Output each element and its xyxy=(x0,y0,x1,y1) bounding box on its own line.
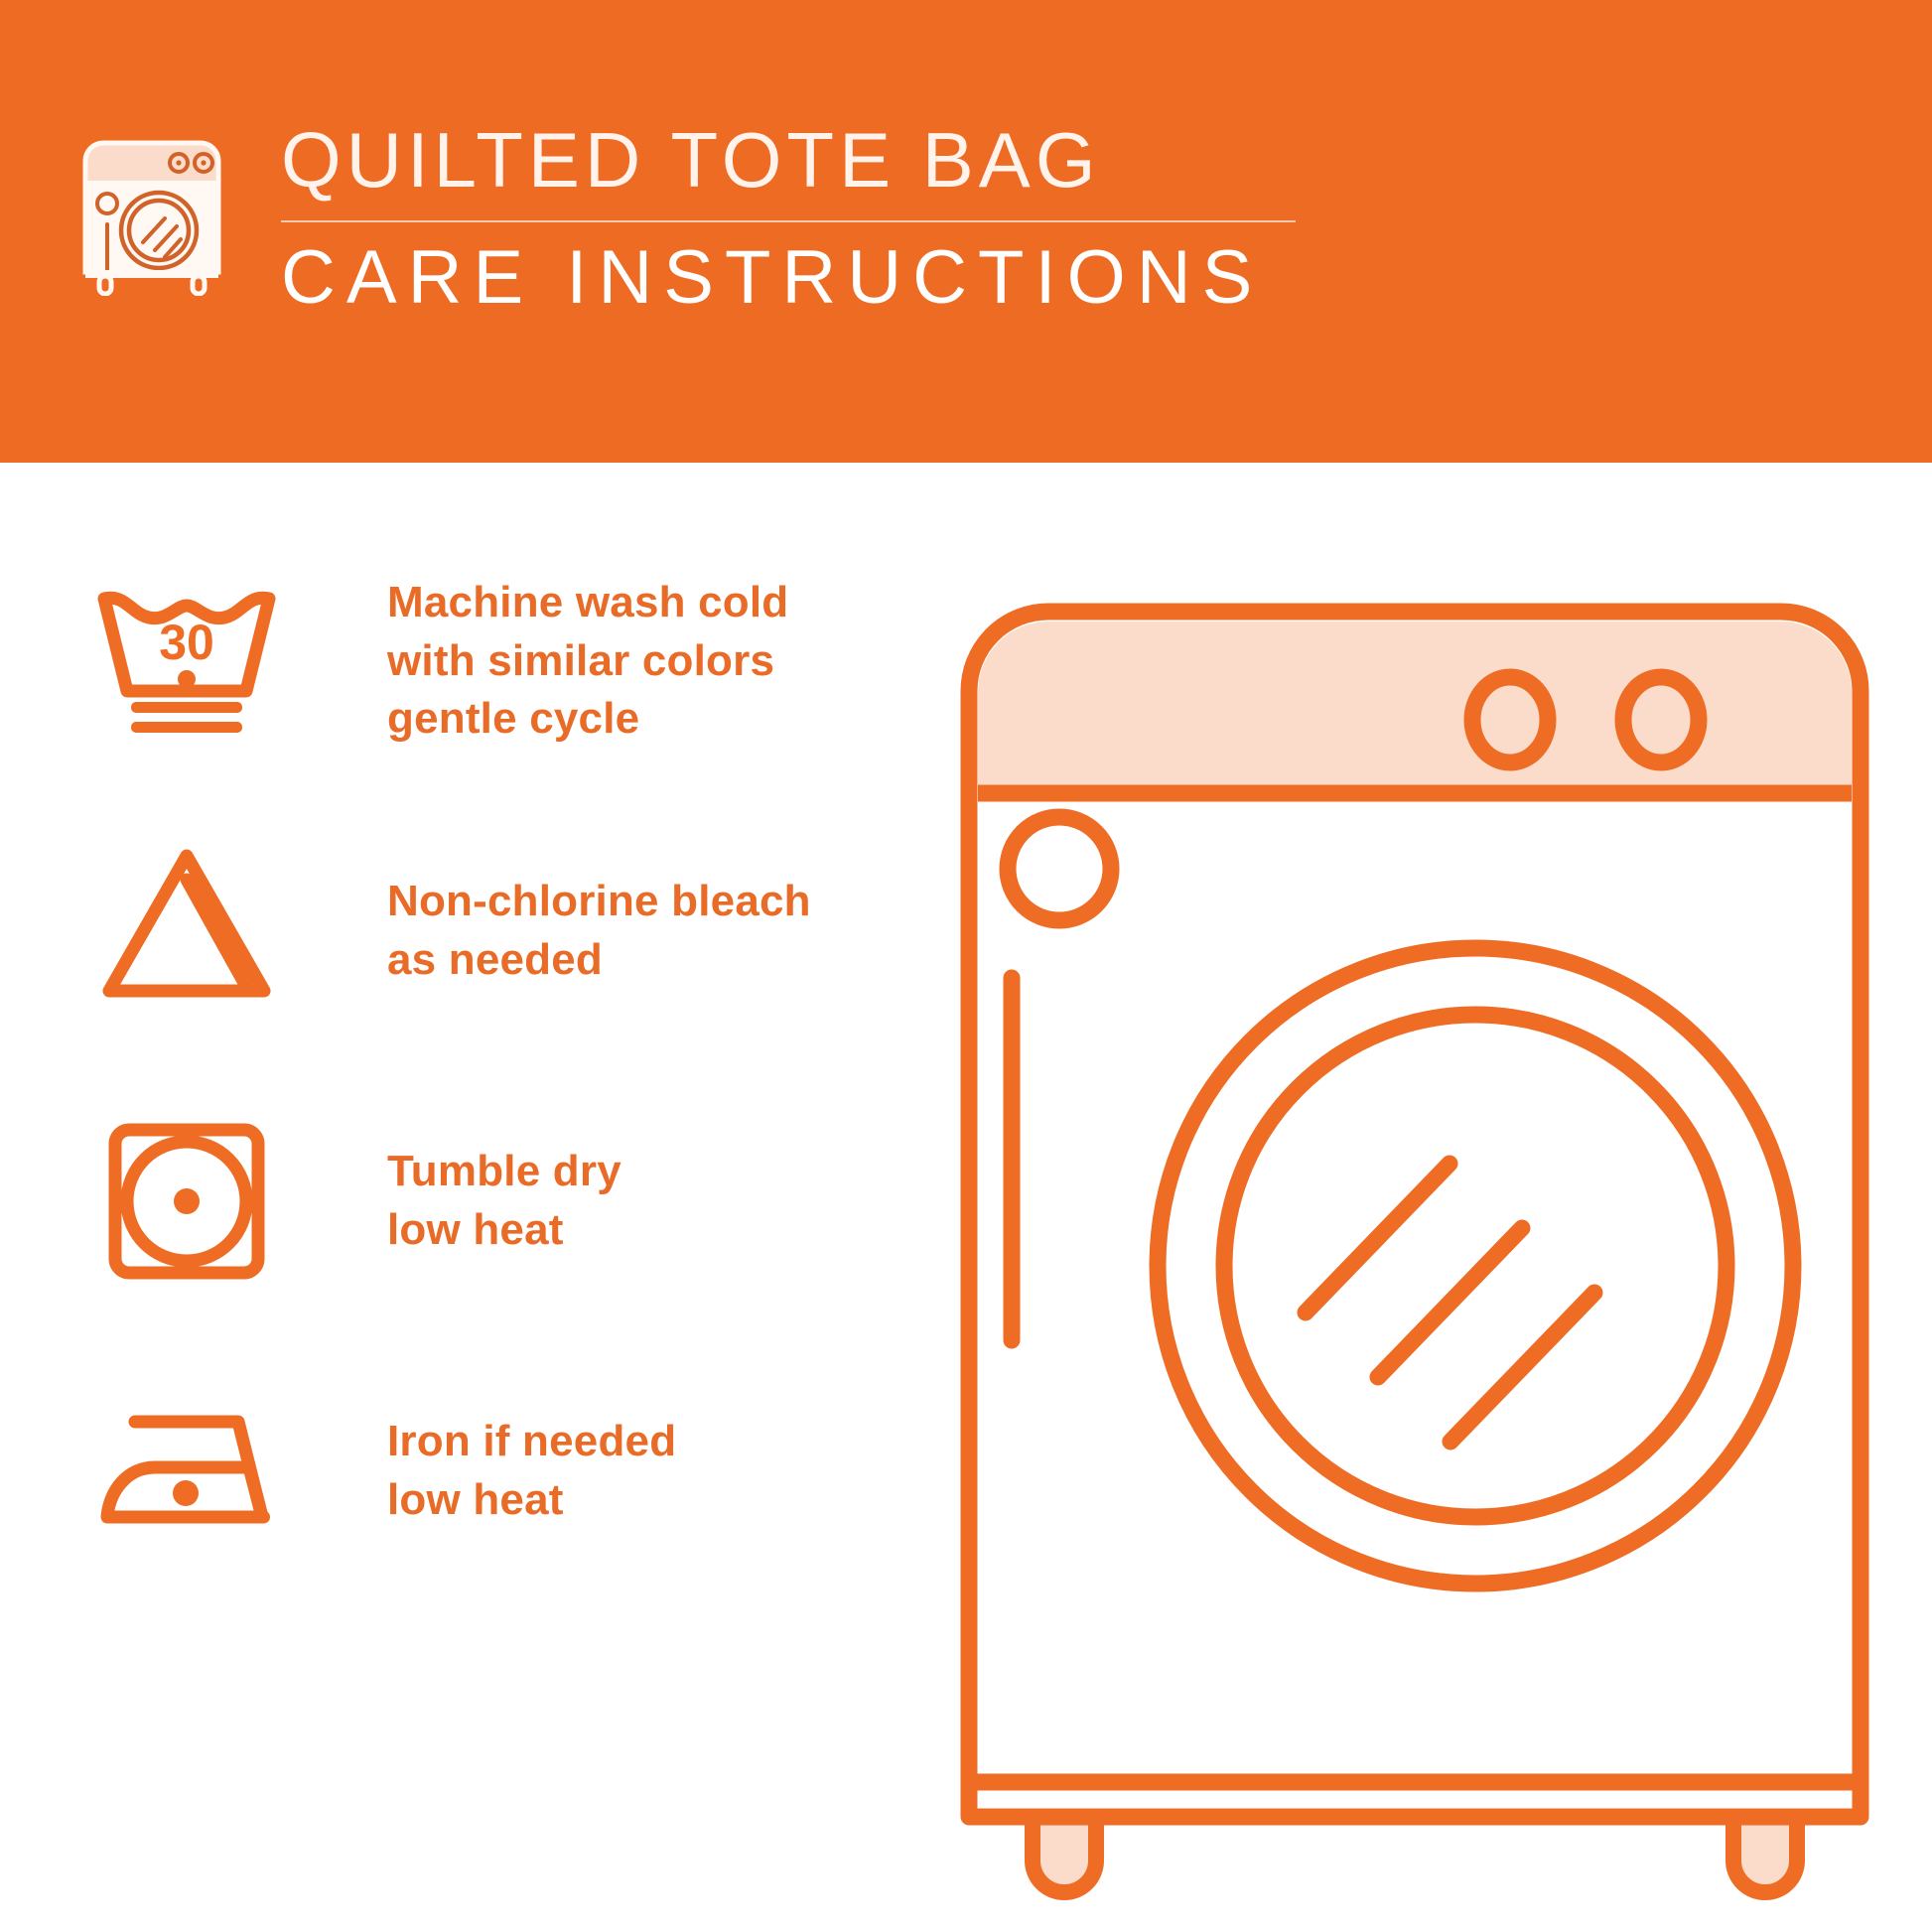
header-banner: QUILTED TOTE BAG CARE INSTRUCTIONS xyxy=(0,0,1932,463)
care-label-machine-wash: Machine wash cold with similar colors ge… xyxy=(387,574,854,749)
bleach-triangle-icon xyxy=(87,832,286,1031)
care-label-tumble-dry: Tumble dry low heat xyxy=(387,1143,854,1259)
care-instruction-list: 30 Machine wash cold with similar colors… xyxy=(0,463,894,1932)
care-row-bleach: Non-chlorine bleach as needed xyxy=(0,812,894,1050)
iron-low-heat-icon xyxy=(87,1372,286,1571)
page-title: QUILTED TOTE BAG xyxy=(281,121,1313,199)
washing-machine-icon xyxy=(77,127,226,286)
care-row-tumble-dry: Tumble dry low heat xyxy=(0,1082,894,1320)
care-label-iron: Iron if needed low heat xyxy=(387,1413,854,1529)
tumble-dry-low-icon xyxy=(87,1102,286,1301)
washing-machine-illustration xyxy=(953,596,1876,1916)
care-instructions-page: QUILTED TOTE BAG CARE INSTRUCTIONS 30 xyxy=(0,0,1932,1932)
wash-tub-30-icon: 30 xyxy=(87,562,286,760)
care-row-iron: Iron if needed low heat xyxy=(0,1352,894,1590)
wash-temperature-label: 30 xyxy=(159,615,214,670)
header-title-block: QUILTED TOTE BAG CARE INSTRUCTIONS xyxy=(281,121,1313,316)
care-label-bleach: Non-chlorine bleach as needed xyxy=(387,873,854,989)
title-divider xyxy=(281,220,1296,222)
care-row-machine-wash: 30 Machine wash cold with similar colors… xyxy=(0,542,894,780)
page-subtitle: CARE INSTRUCTIONS xyxy=(281,240,1313,316)
